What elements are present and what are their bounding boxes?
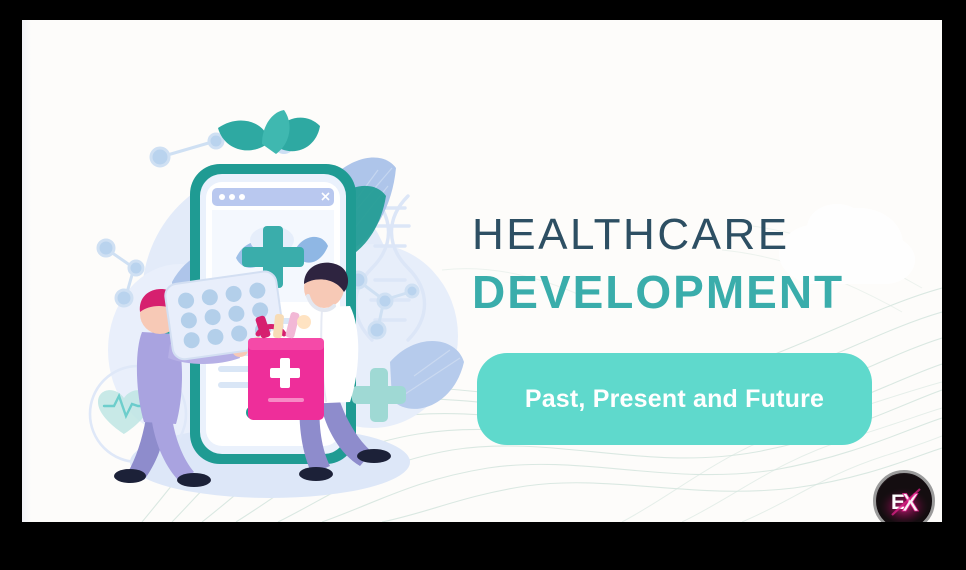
screenshot-frame: HEALTHCARE DEVELOPMENT Past, Present and… bbox=[0, 0, 966, 570]
ex-logo-badge: E X bbox=[873, 470, 935, 522]
ex-logo-icon: E X bbox=[876, 473, 932, 522]
shoe bbox=[299, 467, 333, 481]
title-line-healthcare: HEALTHCARE bbox=[472, 212, 902, 258]
subtitle-banner: Past, Present and Future bbox=[477, 353, 872, 445]
subtitle-text: Past, Present and Future bbox=[525, 385, 824, 414]
title-line-development: DEVELOPMENT bbox=[472, 266, 902, 319]
healthcare-illustration bbox=[72, 100, 472, 510]
shoe bbox=[114, 469, 146, 483]
headline-block: HEALTHCARE DEVELOPMENT bbox=[472, 212, 902, 319]
browser-dot bbox=[229, 194, 235, 200]
shoe bbox=[357, 449, 391, 463]
browser-dot bbox=[239, 194, 245, 200]
shoe bbox=[177, 473, 211, 487]
slide-left-edge-strip bbox=[22, 20, 31, 522]
medical-bag bbox=[248, 327, 324, 421]
browser-dot bbox=[219, 194, 225, 200]
molecule-icon-top bbox=[151, 134, 223, 166]
presentation-slide: HEALTHCARE DEVELOPMENT Past, Present and… bbox=[22, 20, 942, 522]
leaf-cluster-top bbox=[218, 110, 320, 154]
